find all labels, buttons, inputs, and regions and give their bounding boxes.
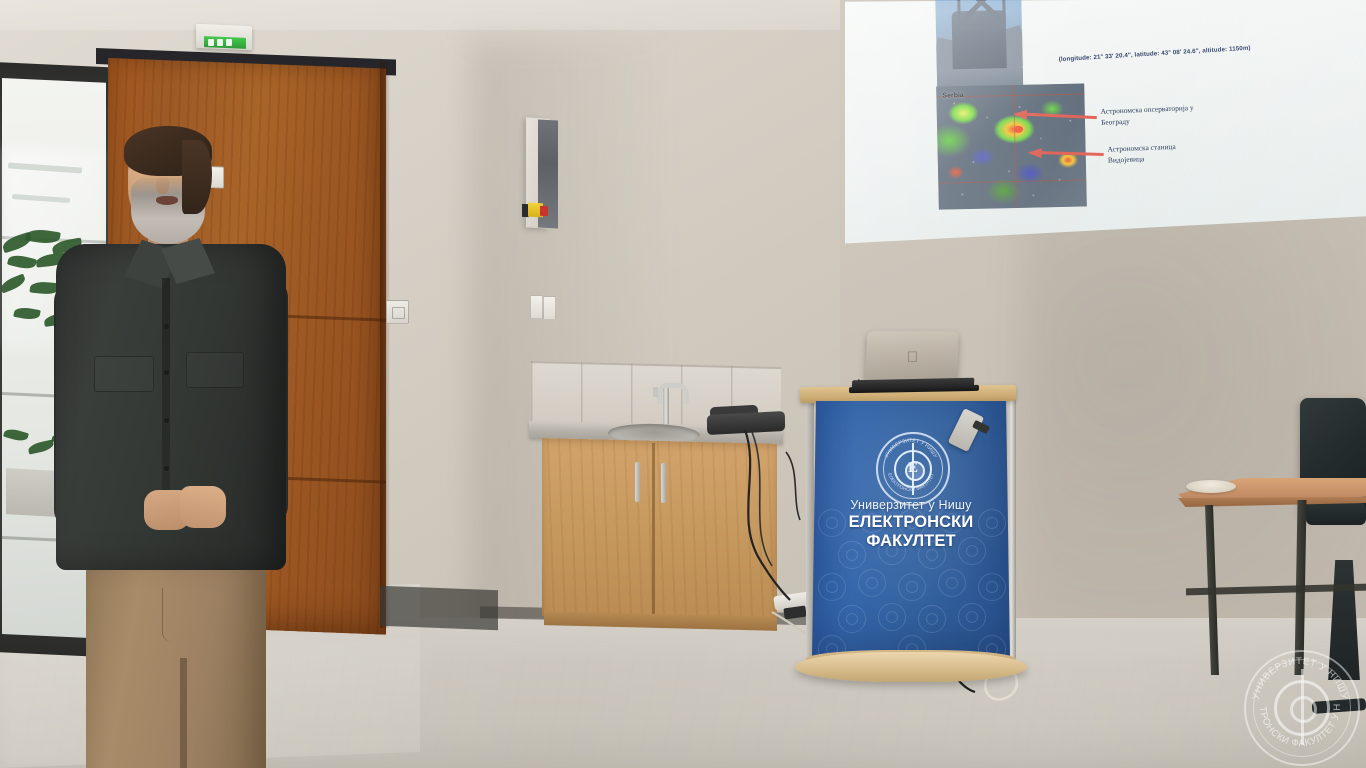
presenter-trouser-seam	[180, 658, 187, 768]
cabinet-door-split	[652, 443, 655, 615]
presenter-chest-pocket-left	[94, 356, 154, 392]
cabinet-handle-left[interactable]	[635, 462, 640, 502]
shirt-button	[164, 370, 169, 375]
emergency-stop-red-icon[interactable]	[540, 206, 548, 216]
faucet-neck	[663, 388, 669, 426]
apple-logo-icon: 	[906, 350, 919, 365]
dish-on-table	[1186, 480, 1236, 493]
presenter	[40, 118, 300, 768]
door-edge-shadow	[380, 62, 390, 628]
light-switch[interactable]	[530, 295, 543, 319]
shirt-button	[164, 324, 169, 329]
equipment-bag	[707, 411, 785, 435]
watermark-ring-top: УНИВЕРЗИТЕТ У НИШУ	[1250, 656, 1349, 701]
faucet-spout	[653, 387, 658, 397]
shirt-button	[164, 466, 169, 471]
watermark-ring-text: УНИВЕРЗИТЕТ У НИШУ ЕЛЕКТРОНСКИ ФАКУЛТЕТ …	[1244, 650, 1356, 762]
presenter-chest-pocket-right	[186, 352, 244, 388]
light-switch[interactable]	[543, 296, 556, 320]
office-chair-seat[interactable]	[1306, 503, 1366, 525]
podium-base	[795, 652, 1027, 682]
exit-sign-pictogram	[208, 38, 242, 47]
university-emblem: E	[876, 432, 950, 506]
faucet-icon[interactable]	[657, 383, 689, 404]
presenter-hair-side	[182, 140, 212, 214]
emblem-letter: E	[908, 461, 918, 476]
svg-text:УНИВЕРЗИТЕТ У НИШУ: УНИВЕРЗИТЕТ У НИШУ	[1250, 656, 1349, 701]
lecture-hall-photo: E УНИВЕРЗИТЕТ У НИШУ ЕЛЕКТРОНСКИ ФАКУЛТЕ…	[0, 0, 1366, 768]
presenter-hand-right	[180, 486, 226, 528]
shirt-button	[164, 418, 169, 423]
presenter-nose	[156, 174, 169, 194]
podium-university-name: Универзитет у Нишу	[812, 498, 1010, 512]
kitchen-cabinet[interactable]	[542, 438, 777, 622]
presenter-mouth	[156, 196, 178, 205]
presenter-trouser-fly	[162, 588, 187, 642]
cabinet-handle-right[interactable]	[661, 463, 666, 503]
podium-faculty-name: ЕЛЕКТРОНСКИ ФАКУЛТЕТ	[806, 513, 1016, 551]
door-base-shadow	[380, 586, 498, 631]
power-socket[interactable]	[386, 300, 409, 324]
